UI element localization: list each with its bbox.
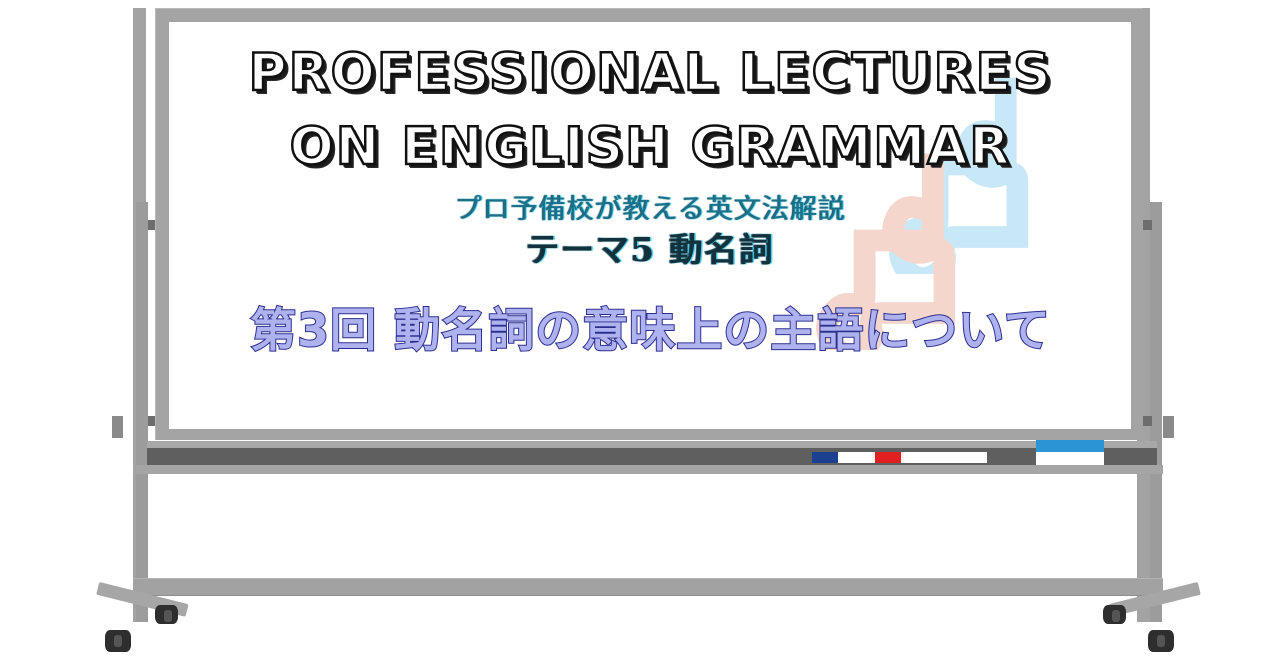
marker-red-barrel — [901, 452, 987, 463]
subtitle-line-2: テーマ5 動名詞 — [169, 228, 1131, 272]
marker-blue-cap — [812, 452, 838, 463]
board-headline: 第3回 動名詞の意味上の主語について — [169, 300, 1131, 360]
subtitle-line-1: プロ予備校が教える英文法解説 — [169, 192, 1131, 228]
board-eraser[interactable] — [1036, 440, 1104, 465]
board-subtitle: プロ予備校が教える英文法解説 テーマ5 動名詞 — [169, 192, 1131, 272]
title-line-2: ON ENGLISH GRAMMAR — [169, 110, 1131, 184]
stand-crossbar — [133, 578, 1163, 596]
marker-tray-top — [147, 441, 1157, 448]
board-eraser-top — [1036, 440, 1104, 452]
whiteboard-frame: PROFESSIONAL LECTURES ON ENGLISH GRAMMAR… — [155, 8, 1143, 440]
board-title: PROFESSIONAL LECTURES ON ENGLISH GRAMMAR — [169, 36, 1131, 184]
marker-red-cap — [875, 452, 901, 463]
marker-tray-lip — [133, 465, 1163, 474]
title-line-1: PROFESSIONAL LECTURES — [169, 36, 1131, 110]
stand-post-left-inner — [136, 202, 148, 622]
caster-wheel-back-left — [155, 605, 178, 624]
marker-red[interactable] — [875, 452, 987, 463]
whiteboard-surface: PROFESSIONAL LECTURES ON ENGLISH GRAMMAR… — [169, 22, 1131, 429]
caster-wheel-back-right — [1103, 605, 1126, 624]
caster-wheel-front-right — [1148, 630, 1174, 652]
stand-bracket-foot-left — [112, 416, 123, 438]
slide-canvas: PROFESSIONAL LECTURES ON ENGLISH GRAMMAR… — [0, 0, 1280, 668]
stand-bracket-foot-right — [1163, 416, 1174, 438]
marker-tray-body — [147, 448, 1157, 465]
caster-wheel-front-left — [105, 630, 131, 652]
stand-post-right-inner — [1150, 202, 1162, 622]
board-eraser-base — [1036, 452, 1104, 465]
